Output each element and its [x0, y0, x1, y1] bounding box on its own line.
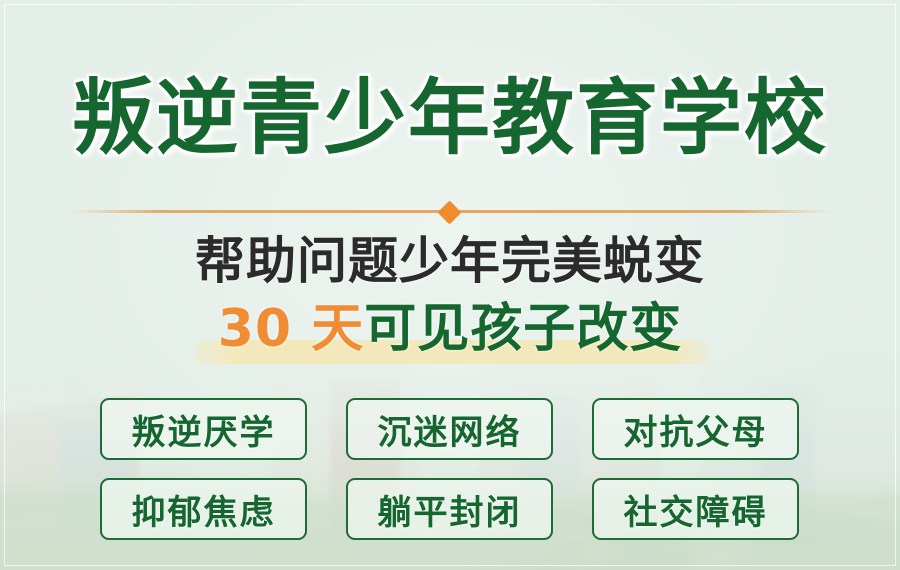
tag-item-3[interactable]: 对抗父母: [592, 398, 799, 460]
diamond-icon: [437, 200, 461, 224]
ornamental-divider: [70, 205, 830, 219]
subtitle-secondary-wrap: 30 天可见孩子改变: [0, 298, 900, 368]
tag-item-6[interactable]: 社交障碍: [592, 478, 799, 540]
tag-grid: 叛逆厌学 沉迷网络 对抗父母 抑郁焦虑 躺平封闭 社交障碍: [100, 398, 800, 540]
tag-item-4[interactable]: 抑郁焦虑: [100, 478, 307, 540]
duration-rest: 可见孩子改变: [364, 299, 682, 359]
poster-content: 叛逆青少年教育学校 帮助问题少年完美蜕变 30 天可见孩子改变 叛逆厌学 沉迷网…: [0, 0, 900, 570]
poster-root: 叛逆青少年教育学校 帮助问题少年完美蜕变 30 天可见孩子改变 叛逆厌学 沉迷网…: [0, 0, 900, 570]
tag-item-5[interactable]: 躺平封闭: [346, 478, 553, 540]
subtitle-secondary: 30 天可见孩子改变: [0, 298, 900, 360]
page-title: 叛逆青少年教育学校: [0, 72, 900, 166]
subtitle-primary: 帮助问题少年完美蜕变: [0, 232, 900, 290]
tag-item-1[interactable]: 叛逆厌学: [100, 398, 307, 460]
duration-number: 30 天: [218, 299, 364, 359]
tag-item-2[interactable]: 沉迷网络: [346, 398, 553, 460]
